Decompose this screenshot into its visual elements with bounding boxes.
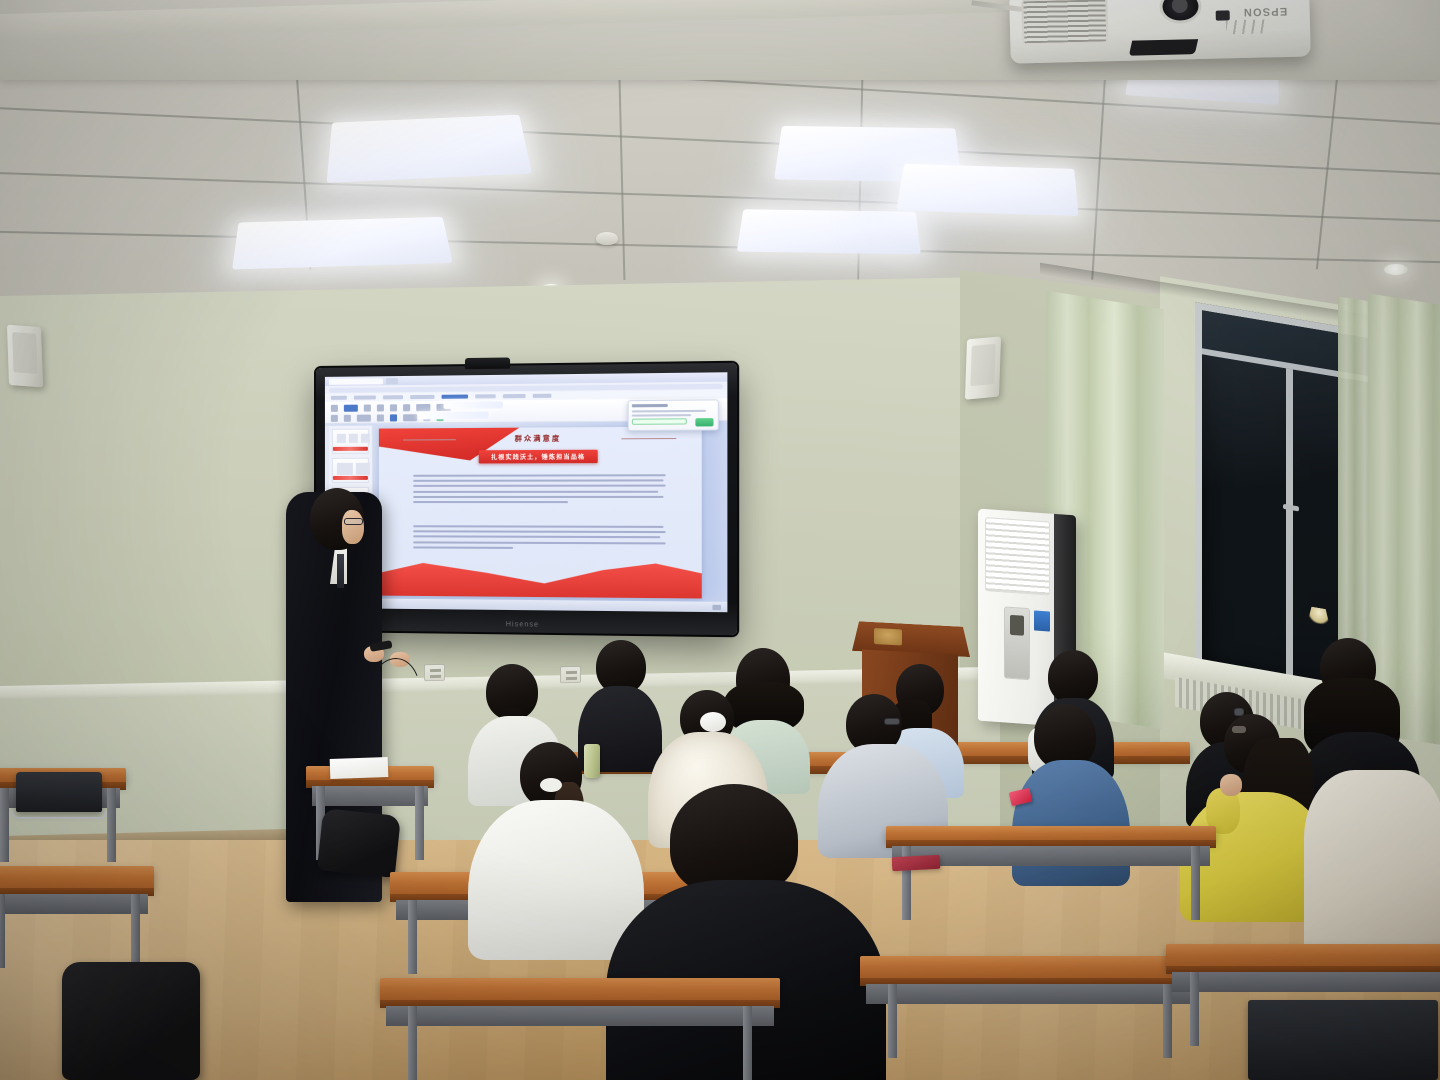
power-outlet-1[interactable] [424, 664, 445, 681]
hair-scrunchie [700, 712, 726, 732]
ribbon-highlight-1 [444, 401, 503, 409]
hair-tie [540, 778, 562, 792]
ribbon-tab-design[interactable] [410, 395, 434, 399]
desk-front-left[interactable] [380, 978, 780, 1080]
desk-front-center[interactable] [860, 956, 1200, 1080]
display-screen[interactable]: 群众满意度 扎根实践沃土，锤炼担当品格 [325, 372, 727, 612]
backpack-on-chair[interactable] [317, 808, 401, 878]
ac-display-screen [1010, 615, 1024, 636]
ribbon-highlight-2 [417, 412, 488, 420]
ceiling-projector: EPSON [1009, 0, 1311, 64]
slide-paragraph-2 [413, 525, 665, 552]
dialog-text-line [632, 410, 706, 413]
ac-vent-grille [985, 517, 1050, 596]
desk-empty-left-2[interactable] [0, 866, 154, 976]
slide-thumbnail[interactable] [332, 429, 369, 454]
toolbar-icon-effect-4[interactable] [403, 404, 410, 411]
toolbar-icon-effect-3[interactable] [390, 404, 397, 411]
projector-lens [1159, 0, 1202, 24]
desk-row-right[interactable] [886, 826, 1216, 918]
app-dialog[interactable] [628, 399, 719, 431]
statusbar-zoom-control[interactable] [712, 604, 721, 609]
display-camera [465, 357, 510, 369]
chair-front-right[interactable] [1248, 1000, 1438, 1080]
downlight-3 [1384, 264, 1408, 275]
app-tab-new[interactable] [386, 378, 398, 384]
toolbar-icon-preview[interactable] [416, 404, 430, 411]
slide-ribbon-middle [379, 559, 702, 598]
toolbar-icon-copy[interactable] [344, 415, 351, 422]
led-panel-light-4 [737, 209, 921, 254]
presenter-glasses [344, 518, 363, 525]
hand-on-chin [1220, 774, 1242, 796]
glasses-icon [1232, 726, 1246, 733]
toolbar-icon-shape[interactable] [390, 414, 397, 421]
ribbon-tab-animation[interactable] [442, 395, 468, 399]
papers-on-desk[interactable] [330, 757, 389, 779]
presenter-face [342, 510, 364, 544]
red-notebook[interactable] [892, 855, 941, 871]
slide-paragraph-1 [413, 474, 665, 506]
toolbar-icon-cut[interactable] [331, 415, 338, 422]
toolbar-icon-effect-1[interactable] [364, 405, 371, 412]
slide-section-title: 群众满意度 [379, 433, 702, 445]
dialog-text-line [632, 414, 691, 417]
slide-canvas[interactable]: 群众满意度 扎根实践沃土，锤炼担当品格 [379, 426, 702, 598]
wall-speaker-left [7, 325, 43, 388]
toolbar-icon-arrange[interactable] [403, 414, 417, 421]
ribbon-tab-slideshow[interactable] [475, 394, 495, 398]
app-tab-active[interactable] [329, 378, 383, 385]
led-panel-light-1 [327, 115, 532, 183]
toolbar-icon-layout[interactable] [357, 415, 371, 422]
smoke-detector [596, 232, 618, 245]
led-panel-light-5 [896, 164, 1078, 216]
app-statusbar[interactable] [325, 598, 727, 612]
toolbar-icon-animation-pane[interactable] [344, 405, 358, 412]
display-brand-label: Hisense [506, 621, 539, 629]
ribbon-tab-view[interactable] [533, 394, 552, 398]
wall-speaker-right [965, 336, 1001, 399]
toolbar-icon-effect-2[interactable] [377, 404, 384, 411]
projector-side-slits [1226, 19, 1266, 34]
student-beige-coat-far-right [1304, 770, 1440, 960]
projector-vent-grille [1021, 0, 1108, 45]
dialog-input[interactable] [632, 418, 687, 425]
slide-thumbnail[interactable] [332, 458, 369, 483]
dialog-title [632, 404, 668, 407]
projector-foot [1129, 39, 1198, 56]
classroom-photo: EPSON [0, 0, 1440, 1080]
ribbon-tab-home[interactable] [354, 395, 376, 399]
ribbon-tab-insert[interactable] [383, 395, 403, 399]
chair-empty-left-1[interactable] [16, 772, 102, 812]
ac-energy-label [1034, 610, 1050, 631]
toolbar-icon-undo[interactable] [331, 405, 338, 412]
backpack-on-floor[interactable] [62, 962, 200, 1080]
led-panel-light-2 [232, 217, 452, 270]
toolbar-icon-font[interactable] [377, 414, 384, 421]
projector-ir-sensor [1216, 10, 1230, 20]
ribbon-tab-file[interactable] [331, 396, 347, 400]
dialog-confirm-button[interactable] [695, 418, 713, 426]
projector-brand-label: EPSON [1243, 5, 1288, 18]
presenter-tie [337, 554, 344, 588]
lectern-emblem [874, 628, 902, 645]
slide-banner-top: 扎根实践沃土，锤炼担当品格 [479, 450, 598, 464]
ribbon-tab-review[interactable] [503, 394, 526, 398]
glasses-icon [884, 718, 900, 725]
